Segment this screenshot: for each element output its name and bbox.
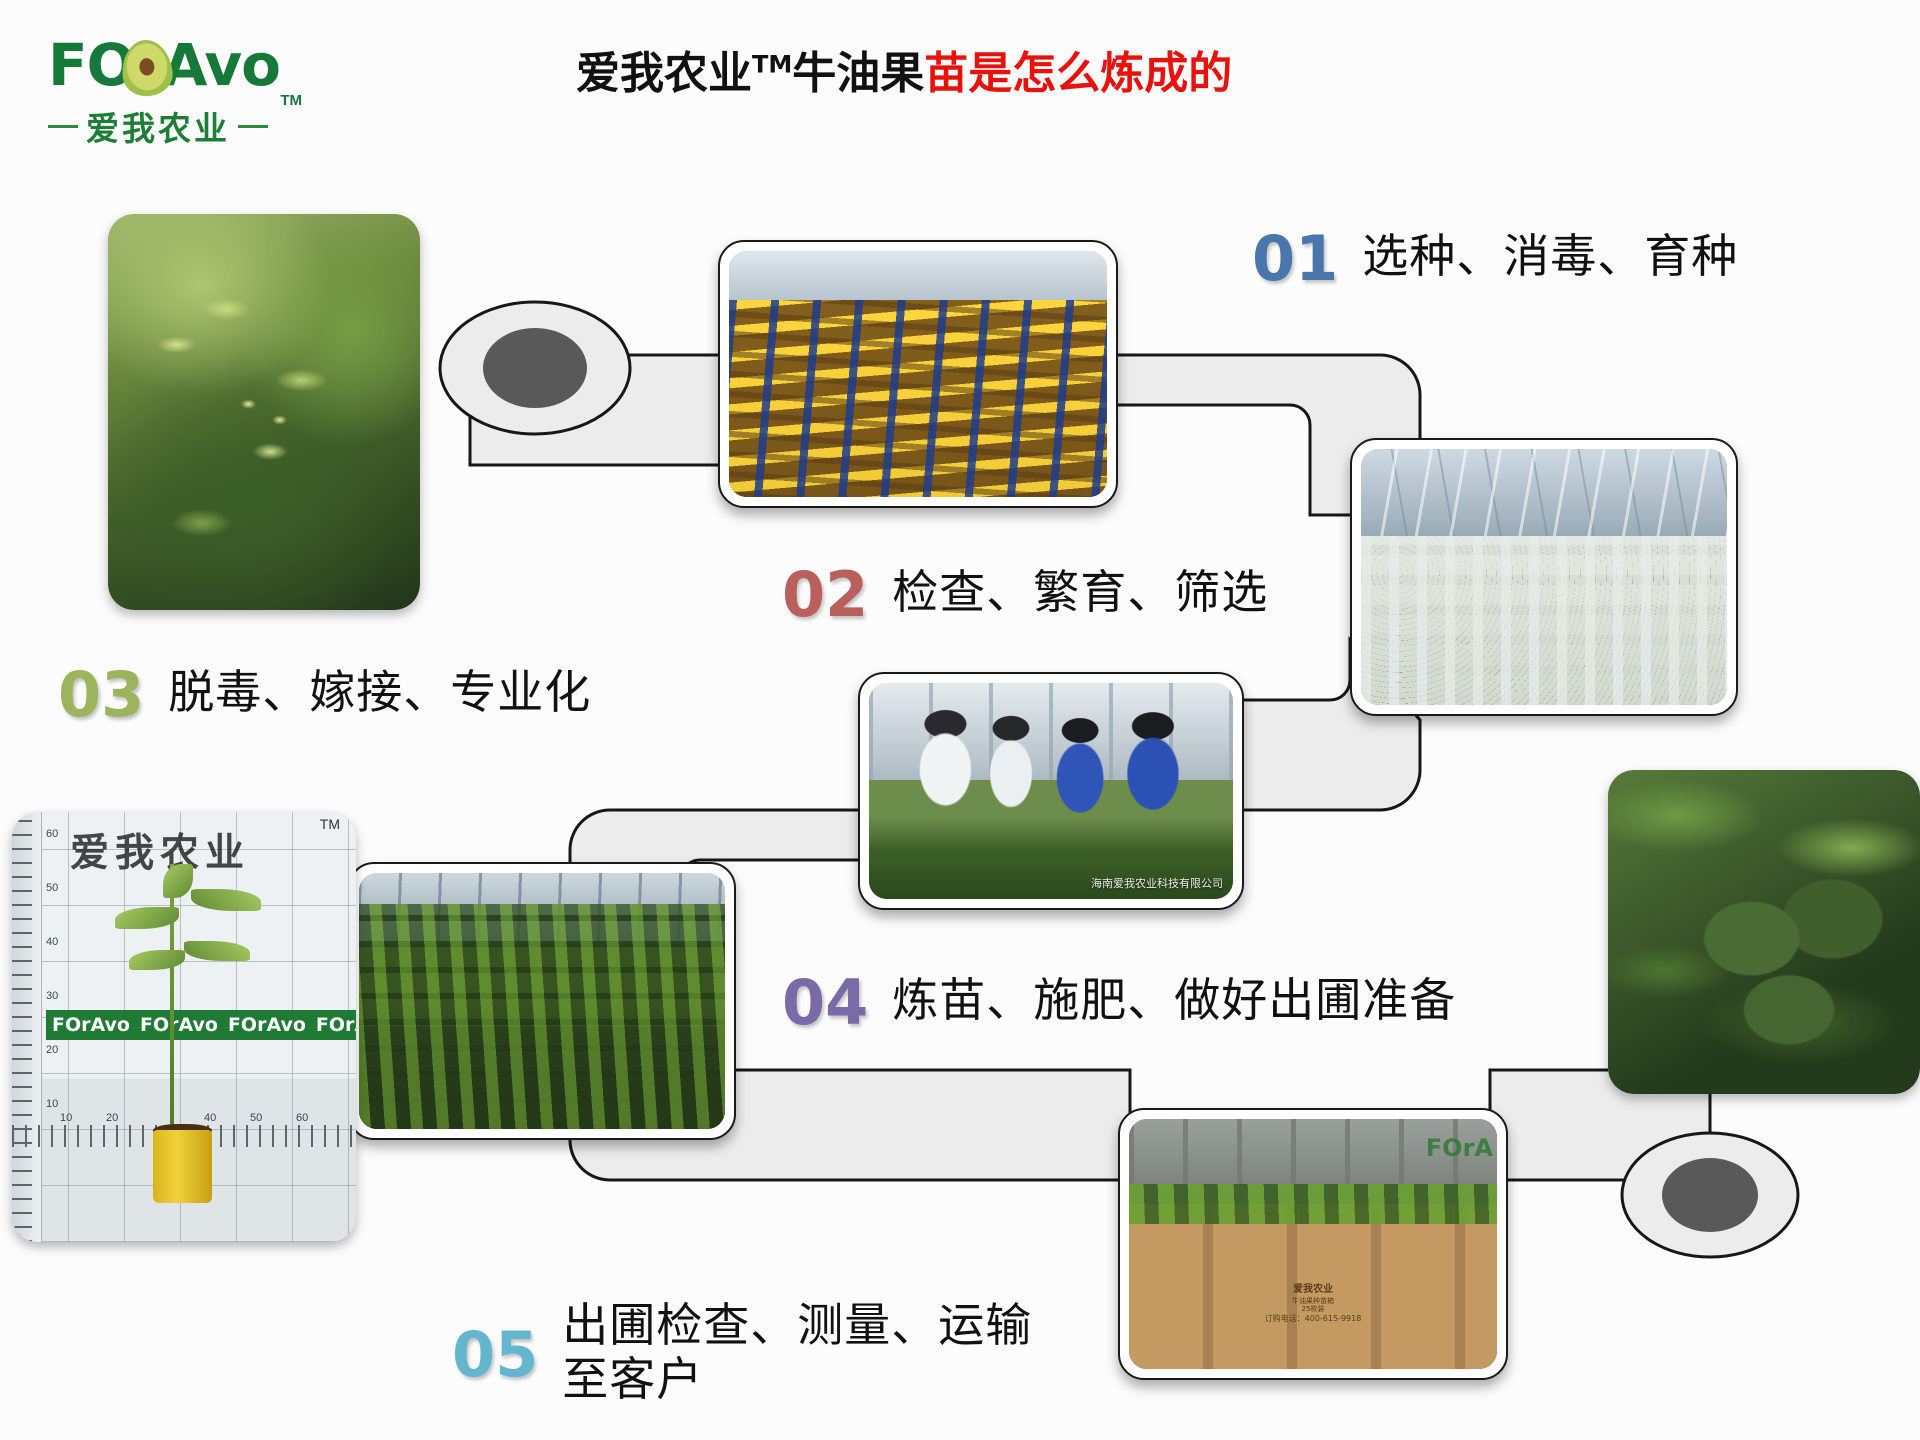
chart-vertical-ticks: [12, 812, 32, 1242]
chart-v-label-60: 60: [46, 828, 58, 840]
photo-frame: 60 50 40 30 20 10 10 20 40 50 60 爱我农业 TM…: [12, 812, 356, 1242]
title-part-red: 苗是怎么炼成的: [924, 48, 1232, 99]
title-part-black2: 牛油果: [792, 48, 924, 99]
ribbon-end-dot: [1662, 1158, 1758, 1232]
step-05-label-line2: 至客户: [562, 1352, 1032, 1406]
photo-image: [359, 873, 725, 1129]
photo-image: 60 50 40 30 20 10 10 20 40 50 60 爱我农业 TM…: [12, 812, 356, 1242]
photo-watermark: 海南爱我农业科技有限公司: [1091, 875, 1223, 891]
chart-h-label-40: 40: [204, 1112, 216, 1124]
photo-image: [729, 251, 1107, 497]
chart-v-label-40: 40: [46, 936, 58, 948]
chart-brand-band: FOrAvo FOrAvo FOrAvo FOrAvo: [46, 1010, 356, 1040]
chart-seedling-stem: [170, 864, 174, 1131]
step-05-label-line1: 出圃检查、测量、运输: [562, 1298, 1032, 1352]
chart-watermark-text: 爱我农业: [70, 822, 250, 878]
step-04-number: 04: [782, 972, 868, 1034]
photo-image: [1361, 449, 1727, 705]
ribbon-end-node: [1622, 1133, 1798, 1257]
photo-frame: 海南爱我农业科技有限公司: [869, 683, 1233, 899]
chart-watermark-tm: TM: [320, 816, 340, 832]
ribbon-start-dot: [483, 328, 587, 408]
carton-phone: 订购电话：400-615-9918: [1261, 1314, 1364, 1324]
photo-greenhouse-seed-trays: [718, 240, 1118, 508]
band-text-4: FOrAvo: [316, 1014, 356, 1036]
step-05: 05 出圃检查、测量、运输 至客户: [452, 1298, 1032, 1406]
photo-frame: 爱我农业 牛油果种苗箱 25枚装 订购电话：400-615-9918 FOrA: [1129, 1119, 1497, 1369]
brand-logo: FOrAvo TM 爱我农业: [48, 34, 318, 144]
step-05-label: 出圃检查、测量、运输 至客户: [562, 1298, 1032, 1406]
step-04-label: 炼苗、施肥、做好出圃准备: [892, 972, 1456, 1028]
step-02-label: 检查、繁育、筛选: [892, 564, 1268, 620]
chart-h-label-60: 60: [296, 1112, 308, 1124]
photo-greenhouse-bagged-grafts: [1350, 438, 1738, 716]
chart-h-label-10: 10: [60, 1112, 72, 1124]
step-01-label: 选种、消毒、育种: [1362, 228, 1738, 284]
chart-h-label-50: 50: [250, 1112, 262, 1124]
photo-avocado-flower-branch: [108, 214, 420, 610]
photo-frame: [108, 214, 420, 610]
photo-frame: [359, 873, 725, 1129]
infographic-canvas: FOrAvo TM 爱我农业 爱我农业TM牛油果苗是怎么炼成的: [0, 0, 1920, 1440]
band-text-1: FOrAvo: [52, 1014, 130, 1036]
photo-packed-cartons-shipping: 爱我农业 牛油果种苗箱 25枚装 订购电话：400-615-9918 FOrA: [1118, 1108, 1508, 1380]
logo-rule-left: [48, 125, 78, 128]
chart-h-label-20: 20: [106, 1112, 118, 1124]
step-03-number: 03: [58, 664, 144, 726]
ribbon-start-node: [440, 302, 630, 434]
logo-wordmark: FOrAvo TM: [48, 34, 318, 100]
band-text-3: FOrAvo: [228, 1014, 306, 1036]
title-part-black: 爱我农业: [576, 48, 752, 99]
logo-rule-right: [238, 125, 268, 128]
step-02: 02 检查、繁育、筛选: [782, 564, 1268, 626]
band-text-2: FOrAvo: [140, 1014, 218, 1036]
chart-v-label-10: 10: [46, 1098, 58, 1110]
logo-chinese-name: 爱我农业: [86, 102, 230, 150]
carton-line2: 牛油果种苗箱: [1261, 1297, 1364, 1306]
step-04: 04 炼苗、施肥、做好出圃准备: [782, 972, 1456, 1034]
carton-side-brand: FOrA: [1426, 1134, 1493, 1162]
photo-avocado-fruit-on-tree: [1608, 770, 1920, 1094]
carton-line3: 25枚装: [1261, 1305, 1364, 1314]
chart-v-label-50: 50: [46, 882, 58, 894]
step-03: 03 脱毒、嫁接、专业化: [58, 664, 591, 726]
step-02-number: 02: [782, 564, 868, 626]
carton-label: 爱我农业 牛油果种苗箱 25枚装 订购电话：400-615-9918: [1261, 1284, 1364, 1324]
photo-seedling-measurement-chart: 60 50 40 30 20 10 10 20 40 50 60 爱我农业 TM…: [12, 812, 356, 1242]
step-05-number: 05: [452, 1324, 538, 1386]
carton-brand: 爱我农业: [1261, 1284, 1364, 1297]
photo-frame: [1361, 449, 1727, 705]
photo-frame: [729, 251, 1107, 497]
chart-pot: [153, 1130, 211, 1203]
photo-nursery-potted-seedlings: [348, 862, 736, 1140]
step-01: 01 选种、消毒、育种: [1252, 228, 1738, 290]
logo-trademark: TM: [280, 92, 302, 109]
photo-image: [108, 214, 420, 610]
title-trademark: TM: [752, 50, 792, 78]
chart-v-label-20: 20: [46, 1044, 58, 1056]
photo-image: [1608, 770, 1920, 1094]
photo-frame: [1608, 770, 1920, 1094]
photo-seedling-tops: [1129, 1184, 1497, 1224]
page-title: 爱我农业TM牛油果苗是怎么炼成的: [576, 46, 1676, 101]
step-03-label: 脱毒、嫁接、专业化: [168, 664, 591, 720]
photo-image: [869, 683, 1233, 899]
step-01-number: 01: [1252, 228, 1338, 290]
logo-chinese-row: 爱我农业: [48, 102, 318, 150]
chart-v-label-30: 30: [46, 990, 58, 1002]
photo-staff-inspecting-seedlings: 海南爱我农业科技有限公司: [858, 672, 1244, 910]
